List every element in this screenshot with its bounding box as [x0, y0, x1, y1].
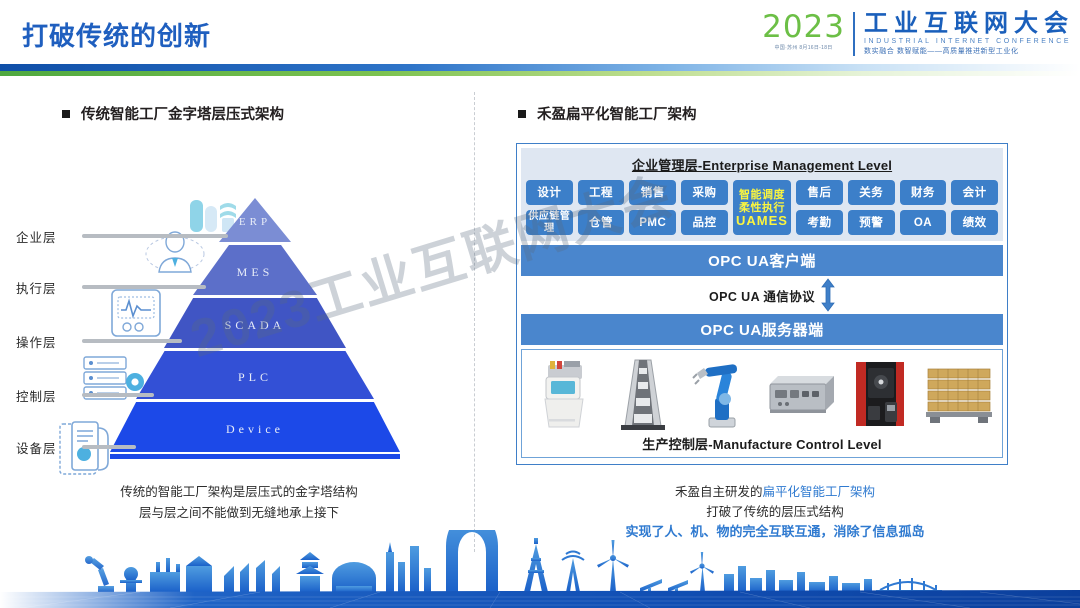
enterprise-module-grid: 设计 供应链管理 工程 仓管 销售 PMC 采购 品控 智能调度 柔性执行 UA…	[526, 180, 998, 235]
uames-line1: 智能调度	[739, 189, 785, 201]
logo-name-cn: 工业互联网大会	[864, 10, 1074, 37]
section-heading-left: 传统智能工厂金字塔层压式架构	[62, 103, 284, 124]
conveyor-icon	[607, 357, 679, 431]
module-sales[interactable]: 销售	[629, 180, 676, 205]
layer-connector-line	[82, 234, 228, 238]
layer-connector-line	[82, 285, 206, 289]
enterprise-level-title: 企业管理层-Enterprise Management Level	[526, 152, 998, 180]
right-caption-line2: 打破了传统的层压式结构	[540, 502, 1010, 522]
module-column: 采购 品控	[681, 180, 728, 235]
module-column: 售后 考勤	[796, 180, 843, 235]
logo-year: 2023	[762, 10, 845, 44]
pyramid-layer-labels: 企业层 执行层 操作层 控制层 设备层	[0, 130, 474, 470]
right-caption-line1: 禾盈自主研发的扁平化智能工厂架构	[540, 482, 1010, 502]
conference-logo: 2023 中国·苏州 8月16日-18日 工业互联网大会 INDUSTRIAL …	[762, 10, 1074, 66]
logo-name-en: INDUSTRIAL INTERNET CONFERENCE	[864, 37, 1074, 47]
module-accounting[interactable]: 会计	[951, 180, 998, 205]
module-column: 设计 供应链管理	[526, 180, 573, 235]
module-supply-chain[interactable]: 供应链管理	[526, 210, 573, 235]
title-rule-green	[0, 71, 1080, 76]
uames-line3: UAMES	[736, 215, 788, 227]
opc-ua-client-bar: OPC UA客户端	[521, 245, 1003, 276]
slide-header: 打破传统的创新 2023 中国·苏州 8月16日-18日 工业互联网大会 IND…	[0, 0, 1080, 80]
bullet-square-icon	[62, 110, 70, 118]
module-finance[interactable]: 财务	[900, 180, 947, 205]
page-title: 打破传统的创新	[22, 16, 211, 53]
enterprise-management-level: 企业管理层-Enterprise Management Level 设计 供应链…	[521, 148, 1003, 241]
layer-label: 控制层	[16, 386, 82, 405]
module-quality-control[interactable]: 品控	[681, 210, 728, 235]
module-customs[interactable]: 关务	[848, 180, 895, 205]
section-heading-right: 禾盈扁平化智能工厂架构	[518, 103, 697, 124]
module-column-highlight: 智能调度 柔性执行 UAMES	[733, 180, 791, 235]
module-design[interactable]: 设计	[526, 180, 573, 205]
logo-year-block: 2023 中国·苏州 8月16日-18日	[762, 10, 853, 52]
left-caption-line2: 层与层之间不能做到无缝地承上接下	[44, 503, 434, 524]
uames-line2: 柔性执行	[739, 202, 785, 214]
layer-connector-line	[82, 445, 136, 449]
machining-center-icon	[845, 357, 917, 431]
industrial-pc-icon	[766, 357, 838, 431]
logo-date: 中国·苏州 8月16日-18日	[762, 44, 845, 52]
layer-row-control: 控制层	[16, 386, 446, 404]
left-caption-line1: 传统的智能工厂架构是层压式的金字塔结构	[44, 482, 434, 503]
layer-row-operation: 操作层	[16, 332, 446, 350]
module-engineering[interactable]: 工程	[578, 180, 625, 205]
logo-tagline: 数实融合 数智赋能——高质量推进新型工业化	[864, 47, 1074, 57]
module-purchasing[interactable]: 采购	[681, 180, 728, 205]
manufacture-control-level: 生产控制层-Manufacture Control Level	[521, 349, 1003, 458]
layer-row-device: 设备层	[16, 438, 446, 456]
footer-skyline	[0, 530, 1080, 608]
panel-divider	[474, 92, 475, 552]
module-alerts[interactable]: 预警	[848, 210, 895, 235]
layer-connector-line	[82, 393, 154, 397]
traditional-pyramid-panel: ERP MES SCADA PLC Device 企业层 执行层 操作层	[0, 130, 474, 530]
opc-ua-server-bar: OPC UA服务器端	[521, 314, 1003, 345]
module-attendance[interactable]: 考勤	[796, 210, 843, 235]
bidirectional-arrow-icon	[820, 278, 836, 317]
module-oa[interactable]: OA	[900, 210, 947, 235]
module-after-sales[interactable]: 售后	[796, 180, 843, 205]
layer-label: 执行层	[16, 278, 82, 297]
cnc-cabinet-icon	[528, 357, 600, 431]
right-caption-line1-b: 扁平化智能工厂架构	[763, 485, 876, 499]
module-column: 关务 预警	[848, 180, 895, 235]
layer-label: 操作层	[16, 332, 82, 351]
layer-row-execution: 执行层	[16, 278, 446, 296]
module-column: 工程 仓管	[578, 180, 625, 235]
robot-arm-icon	[686, 357, 758, 431]
layer-label: 企业层	[16, 227, 82, 246]
section-heading-right-label: 禾盈扁平化智能工厂架构	[537, 103, 697, 124]
module-column: 会计 绩效	[951, 180, 998, 235]
layer-row-enterprise: 企业层	[16, 227, 446, 245]
module-performance[interactable]: 绩效	[951, 210, 998, 235]
left-caption: 传统的智能工厂架构是层压式的金字塔结构 层与层之间不能做到无缝地承上接下	[44, 482, 434, 524]
module-uames[interactable]: 智能调度 柔性执行 UAMES	[733, 180, 791, 235]
module-warehouse[interactable]: 仓管	[578, 210, 625, 235]
pallet-rack-icon	[924, 357, 996, 431]
module-column: 财务 OA	[900, 180, 947, 235]
section-heading-left-label: 传统智能工厂金字塔层压式架构	[81, 103, 284, 124]
equipment-row	[528, 355, 996, 431]
module-column: 销售 PMC	[629, 180, 676, 235]
logo-text-block: 工业互联网大会 INDUSTRIAL INTERNET CONFERENCE 数…	[855, 10, 1074, 57]
bullet-square-icon	[518, 110, 526, 118]
module-pmc[interactable]: PMC	[629, 210, 676, 235]
flat-architecture-panel: 企业管理层-Enterprise Management Level 设计 供应链…	[516, 143, 1008, 465]
layer-connector-line	[82, 339, 182, 343]
layer-label: 设备层	[16, 438, 82, 457]
right-caption-line1-a: 禾盈自主研发的	[675, 485, 763, 499]
skyline-illustration	[0, 530, 1080, 608]
opc-ua-protocol-label: OPC UA 通信协议	[521, 286, 1003, 305]
opc-ua-protocol-row: OPC UA 通信协议	[521, 276, 1003, 314]
manufacture-control-title: 生产控制层-Manufacture Control Level	[528, 431, 996, 453]
title-rule-blue	[0, 64, 1080, 71]
